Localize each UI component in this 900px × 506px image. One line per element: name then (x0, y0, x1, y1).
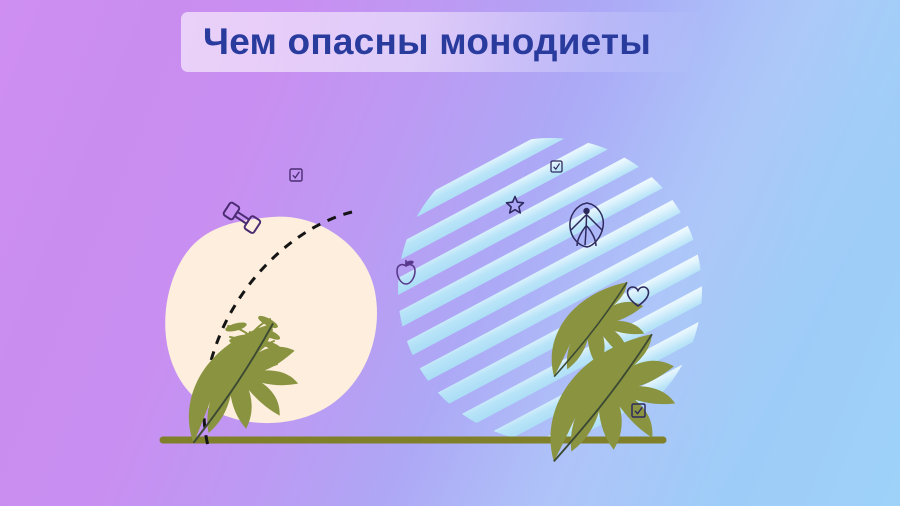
page-title: Чем опасны монодиеты (181, 12, 721, 72)
checkbox-checked-icon-left (290, 169, 302, 181)
slide-canvas: Чем опасны монодиеты (0, 0, 900, 506)
illustration (0, 0, 900, 506)
